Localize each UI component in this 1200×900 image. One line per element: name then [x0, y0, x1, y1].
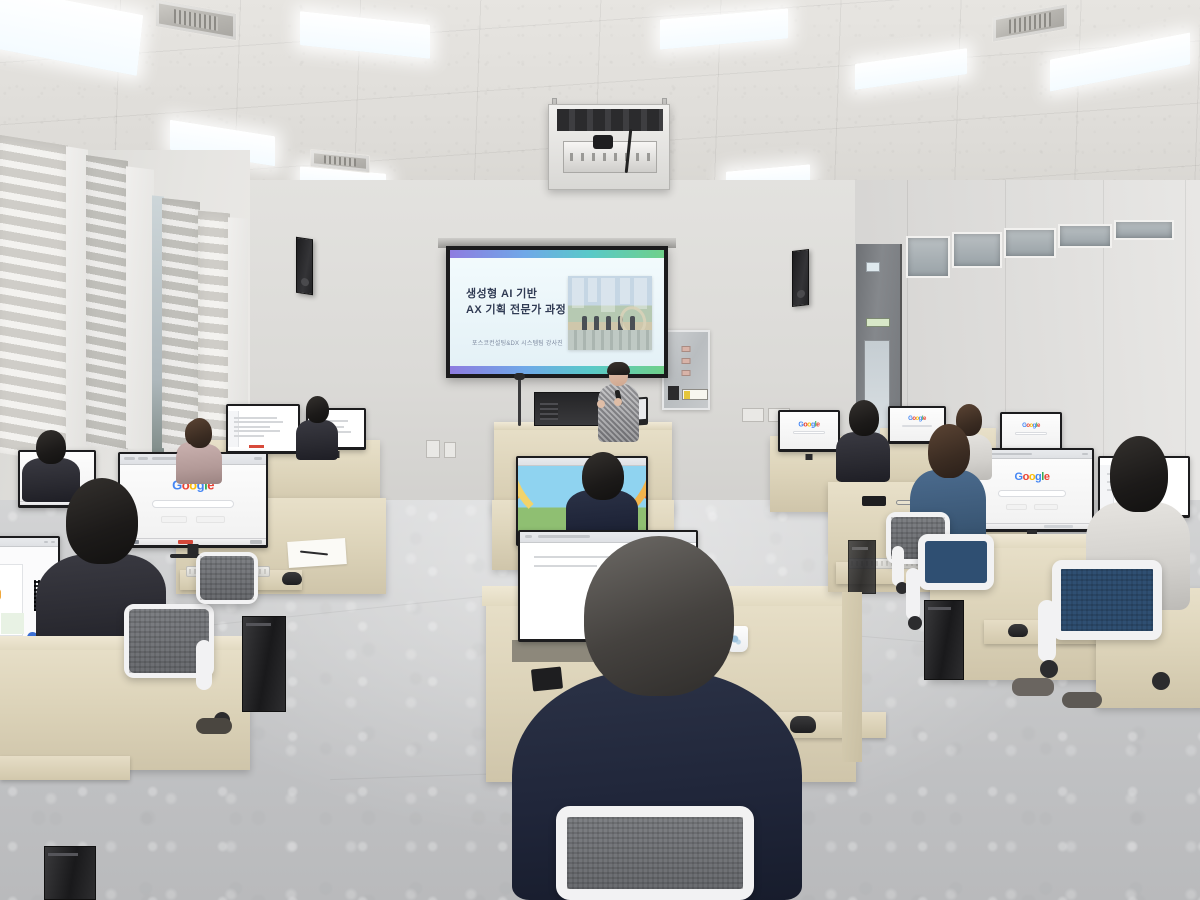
- clerestory-window-2: [952, 232, 1002, 268]
- google-search-button[interactable]: [1006, 504, 1028, 510]
- clerestory-window-4: [1058, 224, 1112, 248]
- left-wall-pier-2: [126, 166, 154, 451]
- av-warning-label: [682, 389, 708, 400]
- taskbar-item[interactable]: [1044, 525, 1073, 529]
- chair-arm-right-front: [1038, 600, 1056, 662]
- slide-photo: [568, 276, 652, 350]
- window-blind-2[interactable]: [86, 155, 128, 451]
- pc-tower-left-2: [44, 846, 96, 900]
- wall-speaker-right: [792, 249, 809, 307]
- google-search-box[interactable]: [1015, 432, 1048, 435]
- av-panel-device: [668, 386, 679, 400]
- smartphone-right[interactable]: [862, 496, 886, 506]
- mouse-right-front[interactable]: [1008, 624, 1028, 637]
- projector-lens-icon: [593, 135, 613, 149]
- exit-sign-icon: [866, 318, 890, 327]
- slide-accent-bar-top: [450, 250, 664, 258]
- monitor-screen: Google: [1002, 414, 1060, 449]
- pc-tower-left: [242, 616, 286, 712]
- desk-center-right-panel: [842, 592, 862, 762]
- chair-caster: [908, 616, 922, 630]
- google-logo: Google: [798, 421, 819, 428]
- clerestory-window-5: [1114, 220, 1174, 240]
- slide-photo-ground: [568, 330, 652, 350]
- projector-shroud: [557, 109, 663, 131]
- google-logo: Google: [1015, 471, 1050, 483]
- instructor-hand-left: [597, 400, 605, 408]
- attendee-left-mid-b: [176, 418, 222, 482]
- chair-center-front[interactable]: [556, 806, 754, 900]
- window-blind-1[interactable]: [0, 134, 68, 463]
- window-blind-3[interactable]: [162, 198, 200, 452]
- google-search-box[interactable]: [998, 490, 1065, 497]
- chair-caster: [1040, 660, 1058, 678]
- attendee-shoe-right-2: [1062, 692, 1102, 708]
- left-wall-pier-1: [66, 146, 88, 459]
- projection-screen: 생성형 AI 기반 AX 기획 전문가 과정 포스코컨설팅&DX 시스템팀 강사…: [446, 246, 668, 378]
- clerestory-window-1: [906, 236, 950, 278]
- attendee-right-back-a: [836, 400, 890, 478]
- foreground-head: [584, 536, 734, 696]
- attendee-left-back-b: [296, 396, 338, 458]
- attendee-center-mid: [566, 452, 638, 538]
- attendee-shoe-left: [196, 718, 232, 734]
- monitor-screen: [228, 406, 298, 451]
- pc-tower-right: [924, 600, 964, 680]
- chair-arm-left-front: [196, 640, 212, 690]
- google-lucky-button[interactable]: [196, 516, 225, 523]
- chair-right-front[interactable]: [1052, 560, 1162, 640]
- instructor-hand-right: [614, 398, 622, 406]
- google-lucky-button[interactable]: [1034, 504, 1058, 510]
- chair-arm-right-back: [892, 546, 904, 586]
- av-control-panel[interactable]: [662, 330, 710, 410]
- ceiling-projector: [548, 104, 670, 190]
- wall-outlet-1[interactable]: [426, 440, 440, 458]
- monitor-left-back-1[interactable]: [226, 404, 300, 454]
- classroom-scene: 생성형 AI 기반 AX 기획 전문가 과정 포스코컨설팅&DX 시스템팀 강사…: [0, 0, 1200, 900]
- chair-caster: [1152, 672, 1170, 690]
- google-logo: Google: [1022, 423, 1040, 429]
- pc-tower-right-2: [848, 540, 876, 594]
- clerestory-window-3: [1004, 228, 1056, 258]
- page-panel: [1, 613, 24, 634]
- monitor-screen: Google: [780, 412, 838, 449]
- instructor-hair: [607, 362, 630, 375]
- monitor-right-back-1[interactable]: Google: [778, 410, 840, 452]
- wall-outlet-2[interactable]: [444, 442, 456, 458]
- attendee-shoe-right: [1012, 678, 1054, 696]
- chair-right-mid[interactable]: [918, 534, 994, 590]
- chair-arm-right-mid: [906, 568, 920, 620]
- taskbar[interactable]: [972, 523, 1092, 529]
- mouse-left-mid[interactable]: [282, 572, 302, 585]
- instructor: [596, 364, 640, 442]
- gooseneck-microphone: [518, 378, 521, 426]
- chair-left-mid[interactable]: [196, 552, 258, 604]
- monitor-right-back-3[interactable]: Google: [1000, 412, 1062, 452]
- taskbar-clock: [250, 540, 262, 544]
- google-logo: Google: [908, 416, 926, 422]
- keyboard-tray-left-front[interactable]: [0, 756, 130, 780]
- google-search-box[interactable]: [793, 431, 826, 434]
- wall-access-plate: [866, 262, 880, 272]
- wall-speaker-left: [296, 237, 313, 295]
- presentation-slide: 생성형 AI 기반 AX 기획 전문가 과정 포스코컨설팅&DX 시스템팀 강사…: [450, 250, 664, 374]
- wall-outlet-3[interactable]: [742, 408, 764, 422]
